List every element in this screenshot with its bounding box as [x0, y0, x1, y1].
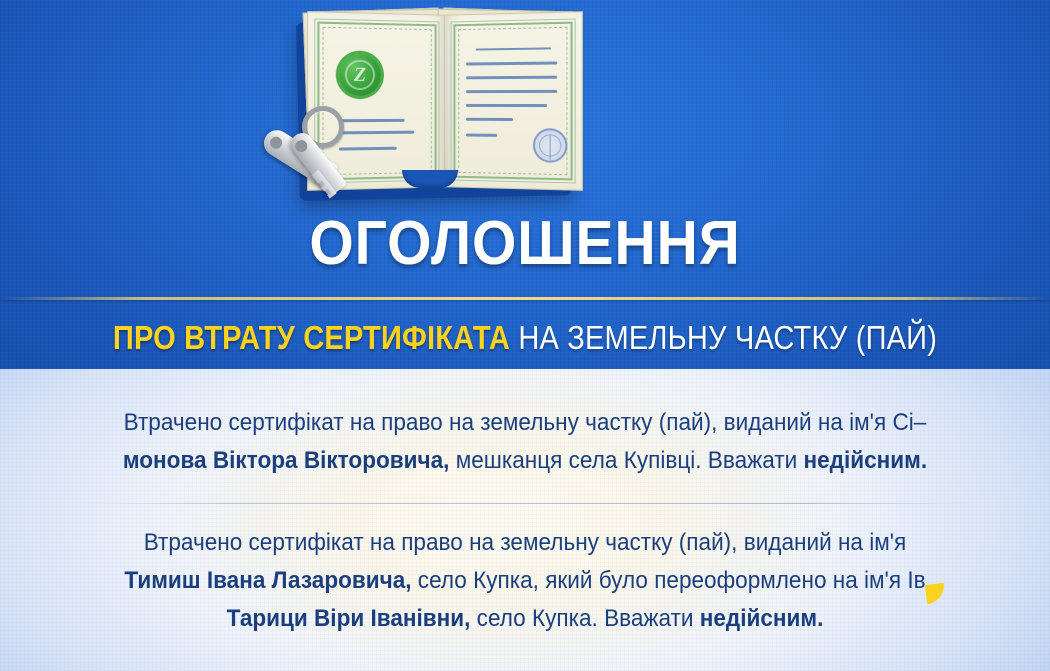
- notice-invalid-word: недійсним.: [700, 605, 824, 632]
- keys-group: [250, 100, 400, 210]
- notice-line: монова Віктора Вікторовича, мешканця сел…: [32, 442, 1019, 480]
- notice-line: Втрачено сертифікат на право на земельну…: [32, 524, 1019, 562]
- notice-line: Тимиш Івана Лазаровича, село Купка, який…: [32, 562, 1019, 600]
- notice-invalid-word: недійсним.: [803, 447, 927, 474]
- notice-line: Тарици Віри Іванівни, село Купка. Вважат…: [32, 600, 1019, 638]
- notice-text: мешканця села Купівці. Вважати: [449, 447, 803, 474]
- notice-text: Втрачено сертифікат на право на земельну…: [144, 529, 907, 556]
- notice-separator: [80, 503, 970, 504]
- page-subtitle: ПРО ВТРАТУ СЕРТИФІКАТА НА ЗЕМЕЛЬНУ ЧАСТК…: [63, 318, 987, 358]
- certificate-page-right: [444, 11, 583, 191]
- subtitle-highlight: ПРО ВТРАТУ СЕРТИФІКАТА: [113, 319, 510, 356]
- page-rule-line: [466, 76, 557, 80]
- page-rule-line: [466, 90, 557, 93]
- gold-divider: [0, 297, 1050, 300]
- notice-person-name: монова Віктора Вікторовича,: [123, 447, 450, 474]
- blue-stamp-icon: [533, 128, 568, 163]
- notice-block: Втрачено сертифікат на право на земельну…: [32, 524, 1019, 638]
- page-rule-line: [466, 118, 513, 121]
- subtitle-rest: НА ЗЕМЕЛЬНУ ЧАСТКУ (ПАЙ): [518, 319, 937, 356]
- notice-line: Втрачено сертифікат на право на земельну…: [32, 404, 1019, 442]
- certificate-book-illustration: [250, 2, 610, 207]
- page-rule-line: [466, 104, 547, 107]
- announcement-poster: ОГОЛОШЕННЯ ПРО ВТРАТУ СЕРТИФІКАТА НА ЗЕМ…: [0, 0, 1050, 671]
- notice-person-name: Тарици Віри Іванівни,: [227, 605, 471, 632]
- notice-person-name: Тимиш Івана Лазаровича,: [124, 567, 411, 594]
- notice-text: село Купка, який було переоформлено на і…: [412, 567, 926, 594]
- notice-block: Втрачено сертифікат на право на земельну…: [32, 404, 1019, 480]
- page-rule-line: [466, 134, 497, 137]
- page-title: ОГОЛОШЕННЯ: [42, 213, 1008, 275]
- notice-text: село Купка. Вважати: [470, 605, 699, 632]
- notice-text: Втрачено сертифікат на право на земельну…: [124, 409, 927, 436]
- green-seal-icon: [339, 53, 381, 96]
